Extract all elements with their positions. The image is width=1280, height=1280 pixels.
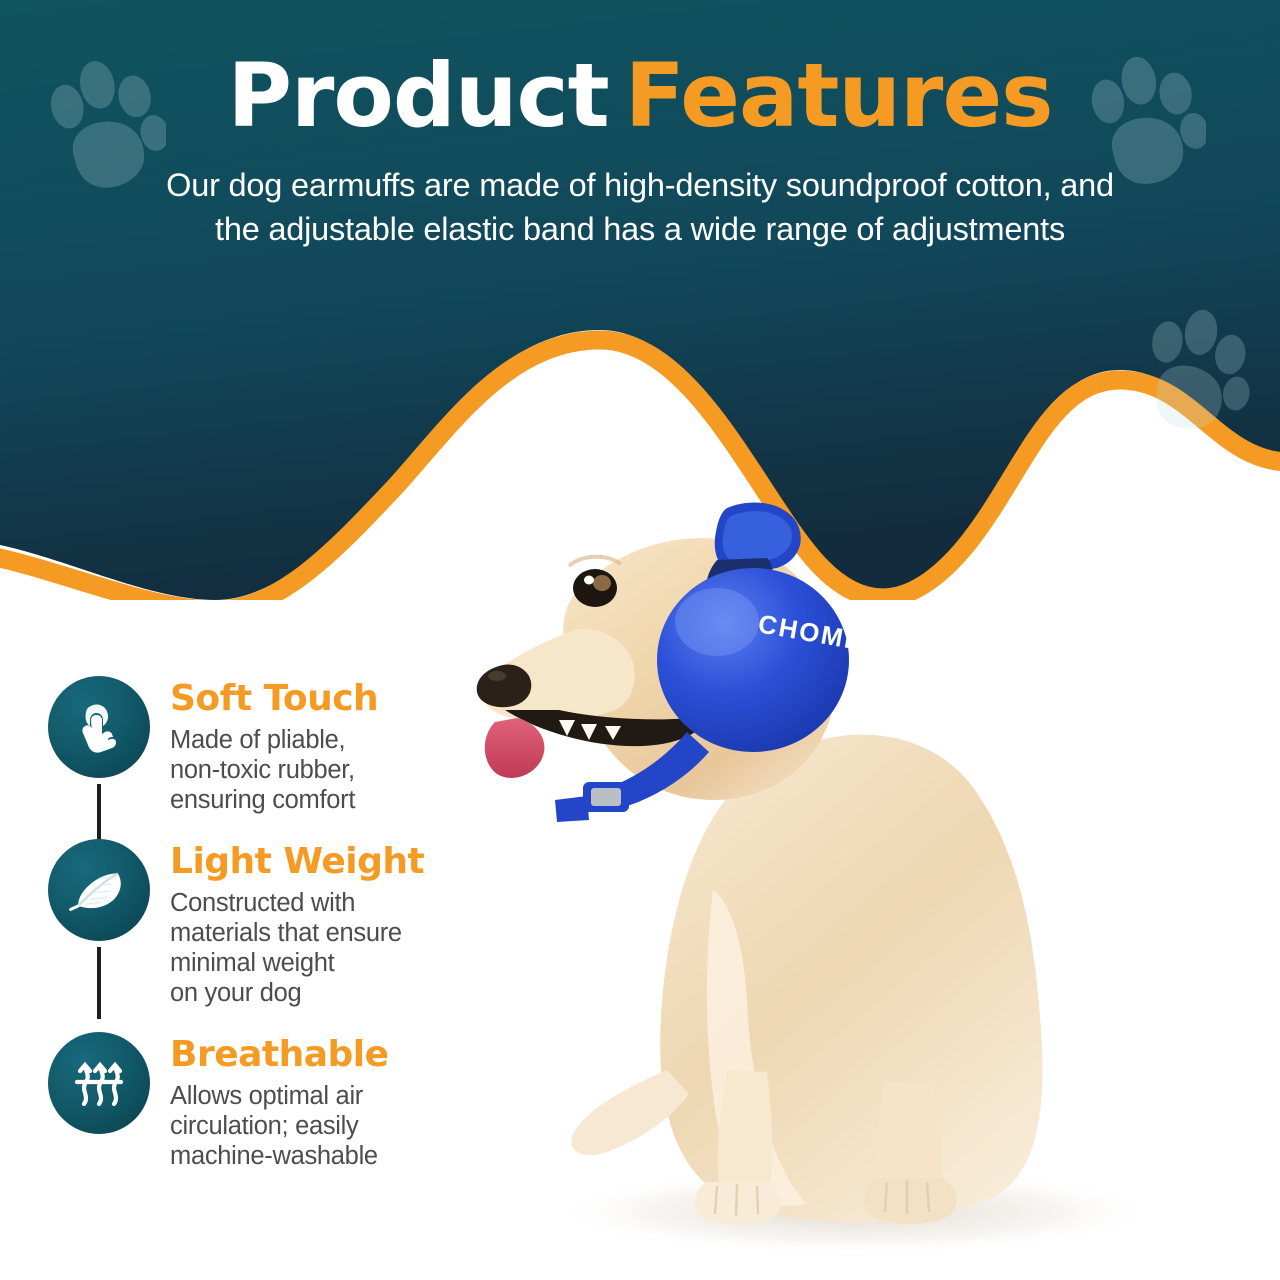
feature-desc-line: Allows optimal air [170,1081,389,1111]
feature-title: Light Weight [170,843,424,881]
feature-item-breathable[interactable]: Breathable Allows optimal air circulatio… [48,1032,518,1171]
feature-desc-line: non-toxic rubber, [170,755,378,785]
paw-print-icon [36,56,166,196]
feature-text-column: Soft Touch Made of pliable, non-toxic ru… [158,676,378,815]
feature-desc-line: ensuring comfort [170,785,378,815]
airflow-icon [48,1032,150,1134]
feature-desc-line: on your dog [170,978,424,1008]
feature-text-column: Breathable Allows optimal air circulatio… [158,1032,389,1171]
dog-eye-iris [593,575,611,591]
feature-title: Breathable [170,1036,389,1074]
feature-text-column: Light Weight Constructed with materials … [158,839,424,1008]
dog-paw-right [864,1178,956,1224]
feather-icon [48,839,150,941]
earmuff-cup [657,568,849,752]
product-features-infographic: ProductFeatures Our dog earmuffs are mad… [0,0,1280,1280]
tap-hand-icon [48,676,150,778]
dog-eye-highlight [584,576,594,585]
dog-illustration: CHOMIN [455,470,1245,1280]
feature-desc-line: Constructed with [170,888,424,918]
feature-description: Allows optimal air circulation; easily m… [170,1074,389,1171]
feature-desc-line: circulation; easily [170,1111,389,1141]
earmuff-cup-highlight [675,588,759,656]
feature-description: Constructed with materials that ensure m… [170,881,424,1008]
feature-description: Made of pliable, non-toxic rubber, ensur… [170,718,378,815]
paw-print-icon [1128,304,1254,436]
paw-print-icon [1076,52,1206,192]
feature-list: Soft Touch Made of pliable, non-toxic ru… [48,676,518,1171]
feature-icon-column [48,676,158,778]
feature-title: Soft Touch [170,680,378,718]
feature-desc-line: machine-washable [170,1141,389,1171]
dog-tail [571,1070,689,1155]
feature-desc-line: materials that ensure [170,918,424,948]
earmuff-strap-end [555,796,589,822]
feature-icon-column [48,839,158,941]
feature-desc-line: Made of pliable, [170,725,378,755]
feature-icon-column [48,1032,158,1134]
feature-connector-line [97,947,101,1019]
feature-item-soft-touch[interactable]: Soft Touch Made of pliable, non-toxic ru… [48,676,518,815]
feature-desc-line: minimal weight [170,948,424,978]
earmuff-buckle-plate [591,788,621,806]
product-photo-dog-with-earmuffs: CHOMIN [455,470,1245,1280]
feature-item-light-weight[interactable]: Light Weight Constructed with materials … [48,839,518,1008]
